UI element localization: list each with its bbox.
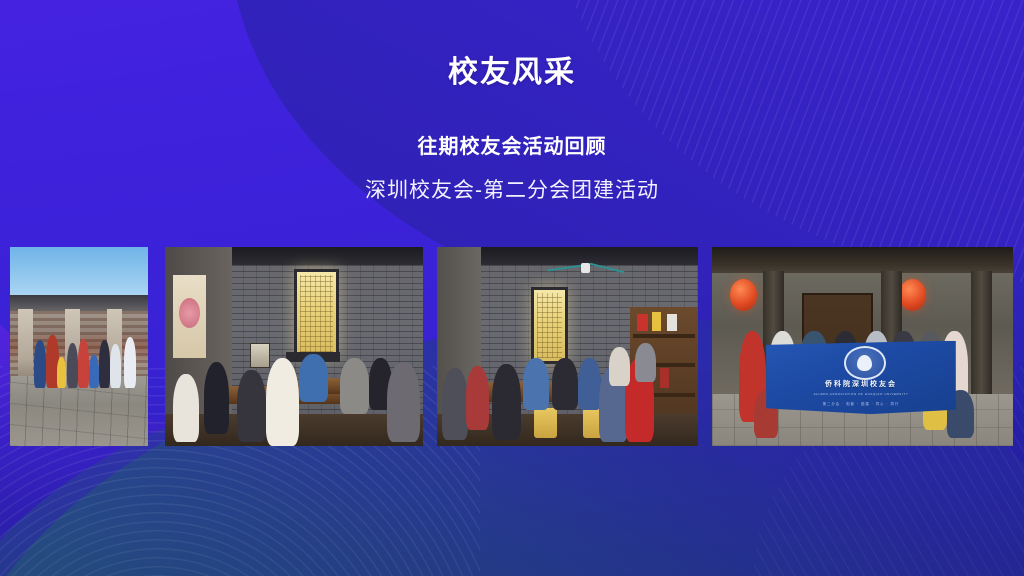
alumni-banner: 侨科院深圳校友会 ALUMNI ASSOCIATION OF HUAQIAO U… bbox=[766, 341, 956, 415]
photo-2-scene bbox=[165, 247, 423, 446]
gallery-photo-4[interactable]: 侨科院深圳校友会 ALUMNI ASSOCIATION OF HUAQIAO U… bbox=[712, 247, 1013, 446]
red-lantern bbox=[730, 279, 757, 311]
gallery-photo-3[interactable] bbox=[437, 247, 698, 446]
photo-3-scene bbox=[437, 247, 698, 446]
hanging-lantern bbox=[531, 287, 568, 365]
event-name: 深圳校友会-第二分会团建活动 bbox=[0, 159, 1024, 204]
title-block: 校友风采 往期校友会活动回顾 深圳校友会-第二分会团建活动 bbox=[0, 0, 1024, 204]
red-lantern bbox=[899, 279, 926, 311]
roof-eaves bbox=[712, 247, 1013, 273]
photo-gallery: 侨科院深圳校友会 ALUMNI ASSOCIATION OF HUAQIAO U… bbox=[0, 247, 1024, 446]
slide-root: 校友风采 往期校友会活动回顾 深圳校友会-第二分会团建活动 bbox=[0, 0, 1024, 576]
gallery-photo-1[interactable] bbox=[10, 247, 148, 446]
photo-1-scene bbox=[10, 247, 148, 446]
banner-subtitle: ALUMNI ASSOCIATION OF HUAQIAO UNIVERSITY bbox=[766, 392, 956, 396]
gallery-photo-2[interactable] bbox=[165, 247, 423, 446]
wall-scroll bbox=[173, 275, 207, 359]
alumni-emblem-icon bbox=[844, 346, 886, 379]
banner-tagline: 第二分会 · 相聚 · 团建 · 同心 · 同行 bbox=[766, 401, 956, 406]
banner-title: 侨科院深圳校友会 bbox=[766, 379, 956, 389]
section-subtitle: 往期校友会活动回顾 bbox=[0, 91, 1024, 159]
people-group bbox=[32, 333, 142, 389]
photo-4-scene: 侨科院深圳校友会 ALUMNI ASSOCIATION OF HUAQIAO U… bbox=[712, 247, 1013, 446]
page-title: 校友风采 bbox=[0, 0, 1024, 91]
ceiling-fan bbox=[547, 263, 625, 273]
hanging-lantern bbox=[294, 269, 339, 359]
decor-jar bbox=[250, 343, 270, 369]
pillar bbox=[971, 271, 992, 394]
stool bbox=[534, 408, 557, 438]
